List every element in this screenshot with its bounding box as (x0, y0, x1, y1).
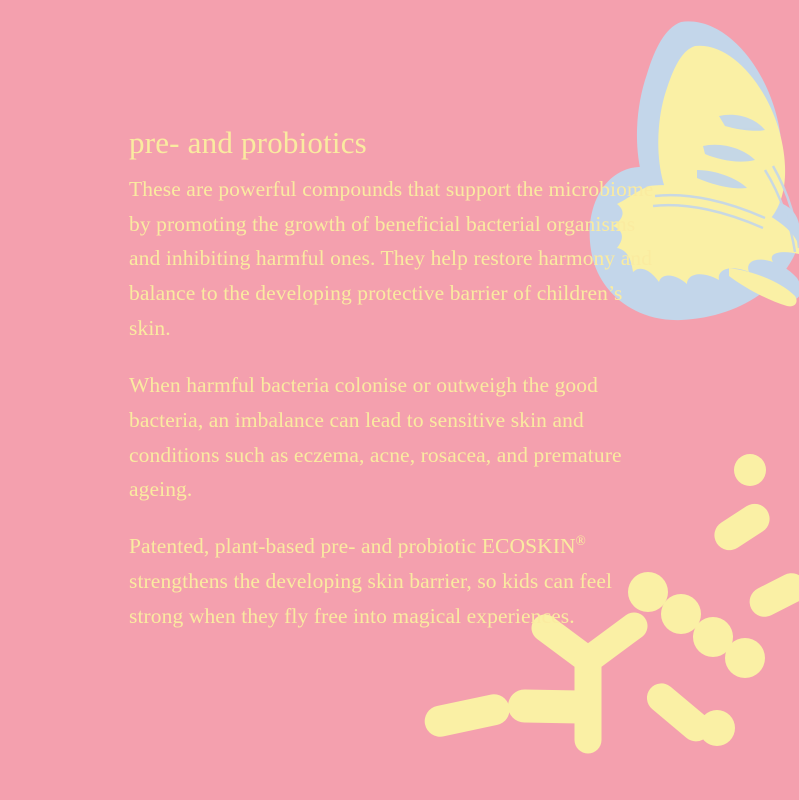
registered-trademark-icon: ® (576, 533, 586, 548)
bacteria-chain-cell (725, 638, 765, 678)
ecoskin-brand: ECOSKIN (482, 534, 576, 558)
bacteria-rod (422, 691, 513, 739)
bacteria-coccus (734, 454, 766, 486)
bacteria-rod (508, 689, 597, 724)
paragraph-ecoskin: Patented, plant-based pre- and probiotic… (129, 529, 669, 633)
ecoskin-text-before: Patented, plant-based pre- and probiotic (129, 534, 482, 558)
paragraph-imbalance: When harmful bacteria colonise or outwei… (129, 368, 669, 507)
text-content-block: pre- and probiotics These are powerful c… (129, 124, 669, 634)
paragraph-definition: These are powerful compounds that suppor… (129, 172, 669, 346)
promo-card: pre- and probiotics These are powerful c… (0, 0, 799, 800)
bacteria-coccus (699, 710, 735, 746)
ecoskin-text-after: strengthens the developing skin barrier,… (129, 569, 612, 628)
bacteria-rod (744, 568, 799, 622)
page-title: pre- and probiotics (129, 124, 669, 162)
bacteria-rod (709, 498, 776, 556)
